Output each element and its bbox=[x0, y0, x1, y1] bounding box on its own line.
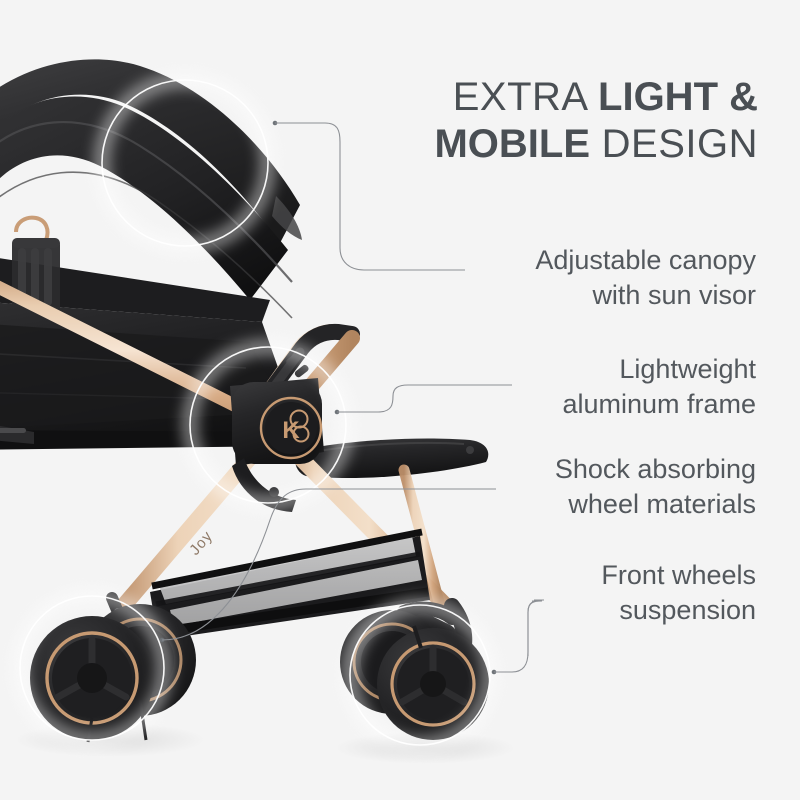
feature-4-line-1: Front wheels bbox=[601, 558, 756, 593]
feature-2-line-2: aluminum frame bbox=[562, 387, 756, 422]
title-line-1: EXTRA LIGHT & bbox=[434, 74, 758, 121]
bumper-end-cap bbox=[466, 446, 474, 454]
feature-1-line-2: with sun visor bbox=[535, 278, 756, 313]
feature-3-line-1: Shock absorbing bbox=[555, 452, 756, 487]
feature-2-line-1: Lightweight bbox=[562, 352, 756, 387]
leader-line-frame bbox=[335, 385, 512, 414]
feature-shock-absorbing-wheels: Shock absorbing wheel materials bbox=[555, 452, 756, 522]
infographic-canvas: Joy K bbox=[0, 0, 800, 800]
feature-lightweight-frame: Lightweight aluminum frame bbox=[562, 352, 756, 422]
leader-line-suspension bbox=[492, 600, 544, 674]
hub-logo-badge: K bbox=[230, 378, 324, 466]
page-title: EXTRA LIGHT & MOBILE DESIGN bbox=[434, 74, 758, 168]
rear-wheel-hub bbox=[77, 663, 107, 693]
title-light-and: LIGHT & bbox=[598, 75, 758, 119]
feature-3-line-2: wheel materials bbox=[555, 487, 756, 522]
title-extra: EXTRA bbox=[453, 75, 598, 119]
feature-4-line-2: suspension bbox=[601, 593, 756, 628]
title-design: DESIGN bbox=[590, 122, 758, 166]
front-wheel-hub bbox=[420, 671, 446, 697]
cup-holder-ring bbox=[16, 218, 48, 240]
feature-adjustable-canopy: Adjustable canopy with sun visor bbox=[535, 243, 756, 313]
title-mobile: MOBILE bbox=[434, 122, 590, 166]
feature-1-line-1: Adjustable canopy bbox=[535, 243, 756, 278]
feature-front-wheels-suspension: Front wheels suspension bbox=[601, 558, 756, 628]
title-line-2: MOBILE DESIGN bbox=[434, 121, 758, 168]
